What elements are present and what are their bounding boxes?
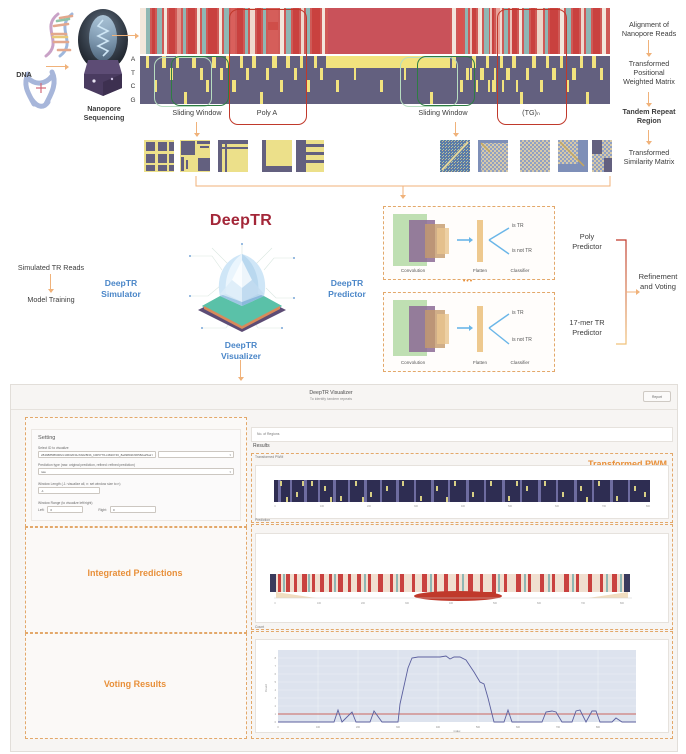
svg-text:700: 700: [581, 602, 586, 605]
window-length-value: -1: [41, 489, 44, 493]
prediction-type-value: raw: [41, 470, 46, 474]
window-range-left-value: 0: [50, 508, 52, 512]
sliding-window-left-label: Sliding Window: [157, 108, 237, 117]
svg-text:5: 5: [275, 681, 277, 684]
prediction-type-input[interactable]: raw ▾: [38, 468, 234, 475]
window-range-label: Window Range (to visualize left/right): [38, 501, 234, 505]
base-a-label: A: [131, 56, 135, 63]
arrow-seq-to-alignment: [112, 35, 138, 36]
window-range-left-label: Left:: [38, 508, 44, 512]
legend-arrow-3: [648, 130, 649, 144]
model-training-label: Model Training: [10, 295, 92, 304]
svg-text:800: 800: [596, 726, 601, 729]
window-length-label: Window Length (-1: visualize all, n: set…: [38, 482, 234, 486]
poly-predictor-l1: Poly: [580, 232, 594, 241]
svg-text:4: 4: [275, 689, 277, 692]
svg-text:0: 0: [277, 726, 279, 729]
legend-tandem-repeat-region: Tandem Repeat Region: [614, 107, 684, 125]
count-panel-header: Count: [255, 625, 264, 629]
legend-sim-l2: Similarity Matrix: [624, 157, 675, 166]
svg-text:700: 700: [556, 726, 561, 729]
funnel-connector: [120, 176, 640, 200]
report-button[interactable]: Report: [643, 391, 671, 402]
poly-net-stage-convolution: Convolution: [383, 268, 443, 273]
arrow-simulated-to-training: [50, 274, 51, 292]
svg-text:300: 300: [414, 505, 419, 508]
svg-text:700: 700: [602, 505, 607, 508]
dna-label: DNA: [6, 70, 42, 79]
transformed-pwm-panel-header: Transformed PWM: [255, 455, 283, 459]
sliding-window-right-box: [417, 56, 475, 106]
window-range-right-input[interactable]: 0: [110, 506, 156, 513]
svg-text:200: 200: [367, 505, 372, 508]
chart-xlabel: index: [454, 729, 461, 732]
legend-alignment-l2: Nanopore Reads: [622, 29, 676, 38]
poly-net-output-is-tr: is TR: [512, 223, 552, 229]
svg-text:800: 800: [646, 505, 651, 508]
svg-text:6: 6: [275, 673, 277, 676]
tg-repeat-label: (TG)ₙ: [499, 108, 563, 117]
legend-alignment-l1: Alignment of: [629, 20, 669, 29]
poly-a-label: Poly A: [231, 108, 303, 117]
results-header: Results: [253, 443, 270, 449]
deeptr-visualizer-app: DeepTR Visualizer To identify tandem rep…: [10, 384, 678, 752]
select-id-input[interactable]: 2849885f8900f2c10602031c6b028f4b_b00577f…: [38, 451, 156, 458]
predictor-l2: Predictor: [328, 289, 366, 299]
nanopore-sequencing-label: Nanopore Sequencing: [73, 104, 135, 122]
kmer-net-output-is-tr: is TR: [512, 310, 552, 316]
kmer-net-stage-flatten: Flatten: [460, 360, 500, 365]
legend-arrow-2: [648, 92, 649, 106]
simulated-tr-reads-label: Simulated TR Reads: [6, 263, 96, 272]
svg-text:100: 100: [320, 505, 325, 508]
svg-text:800: 800: [620, 602, 625, 605]
app-header: DeepTR Visualizer To identify tandem rep…: [11, 385, 677, 410]
svg-text:500: 500: [476, 726, 481, 729]
predictor-l1: DeepTR: [331, 278, 363, 288]
app-subtitle: To identify tandem repeats: [251, 397, 411, 401]
poly-net-stage-flatten: Flatten: [460, 268, 500, 273]
sliding-window-left-box: [171, 56, 229, 106]
svg-text:500: 500: [493, 602, 498, 605]
nanopore-sequencer-illustration: [72, 4, 134, 104]
svg-text:400: 400: [449, 602, 454, 605]
select-id-value: 2849885f8900f2c10602031c6b028f4b_b00577f…: [41, 453, 151, 457]
app-title: DeepTR Visualizer: [251, 390, 411, 396]
predictor-bracket: [616, 238, 646, 348]
nanopore-line2: Sequencing: [84, 113, 125, 122]
window-range-right-value: 0: [113, 508, 115, 512]
kmer-predictor-l1: 17-mer TR: [569, 318, 604, 327]
legend-similarity-matrix: Transformed Similarity Matrix: [612, 148, 686, 166]
legend-trr-l1: Tandem Repeat: [623, 107, 676, 116]
kmer-net-stage-classifier: Classifier: [498, 360, 542, 365]
visualizer-l2: Visualizer: [221, 351, 261, 361]
legend-pwm-l2: Positional: [633, 68, 664, 77]
svg-text:600: 600: [537, 602, 542, 605]
poly-net-stage-classifier: Classifier: [498, 268, 542, 273]
poly-net-output-is-not-tr: is not TR: [512, 248, 556, 254]
arrow-to-matrices-left: [196, 122, 197, 136]
sliding-window-right-label: Sliding Window: [403, 108, 483, 117]
prediction-plot: 0100200 300400500 600700800: [255, 533, 669, 623]
svg-text:8: 8: [275, 657, 277, 660]
refinement-l1: Refinement: [639, 272, 678, 281]
deeptr-predictor-label: DeepTR Predictor: [312, 278, 382, 299]
chevron-down-icon-3: ▾: [229, 470, 231, 474]
voting-results-title: Voting Results: [25, 679, 245, 689]
svg-text:100: 100: [317, 602, 322, 605]
legend-trr-l2: Region: [637, 116, 661, 125]
svg-text:1: 1: [275, 713, 277, 716]
window-range-left-input[interactable]: 0: [47, 506, 83, 513]
svg-text:300: 300: [405, 602, 410, 605]
legend-pwm-l3: Weighted Matrix: [623, 77, 675, 86]
arrow-to-matrices-right: [455, 122, 456, 136]
settings-header: Setting: [38, 435, 55, 441]
kmer-predictor-l2: Predictor: [572, 328, 602, 337]
svg-text:600: 600: [555, 505, 560, 508]
svg-text:500: 500: [508, 505, 513, 508]
deeptr-visualizer-label: DeepTR Visualizer: [196, 340, 286, 361]
refinement-and-voting-label: Refinement and Voting: [630, 272, 686, 293]
deeptr-brand-title: DeepTR: [196, 212, 286, 230]
poly-predictor-label: Poly Predictor: [556, 232, 618, 251]
svg-text:0: 0: [275, 721, 277, 724]
regions-panel-label: No. of Regions: [257, 432, 279, 436]
prediction-type-label: Prediction type (raw: original predictio…: [38, 463, 234, 467]
svg-text:600: 600: [516, 726, 521, 729]
svg-text:200: 200: [356, 726, 361, 729]
nanopore-line1: Nanopore: [87, 104, 121, 113]
svg-text:7: 7: [275, 665, 277, 668]
kmer-net-output-is-not-tr: is not TR: [512, 337, 556, 343]
regions-panel: No. of Regions: [251, 427, 673, 442]
legend-alignment: Alignment of Nanopore Reads: [614, 20, 684, 38]
base-g-label: G: [130, 97, 135, 104]
arrow-visualizer-to-ui: [240, 360, 241, 380]
legend-pwm: Transformed Positional Weighted Matrix: [614, 59, 684, 86]
settings-card: Setting Select ID to visualize 2849885f8…: [31, 429, 241, 521]
simulator-l1: DeepTR: [105, 278, 137, 288]
voting-chart: 012 345 678 0100200 300400500 600700800 …: [255, 639, 669, 733]
pwm-base-labels: A T C G: [128, 56, 138, 104]
transformed-pwm-plot: 0100200 300400500 600700800: [255, 465, 669, 519]
poly-predictor-l2: Predictor: [572, 242, 602, 251]
legend-pwm-l1: Transformed: [629, 59, 669, 68]
svg-text:200: 200: [361, 602, 366, 605]
svg-text:100: 100: [316, 726, 321, 729]
integrated-predictions-title: Integrated Predictions: [25, 568, 245, 578]
svg-text:0: 0: [274, 602, 276, 605]
svg-text:2: 2: [275, 705, 277, 708]
visualizer-l1: DeepTR: [225, 340, 257, 350]
deeptr-chip-illustration: [182, 236, 302, 346]
prediction-track-svg: 0100200 300400500 600700800: [256, 534, 668, 622]
chevron-down-icon-2: ▾: [229, 453, 231, 457]
similarity-matrix-group-left: [144, 140, 324, 174]
arrow-dna-to-seq: [46, 66, 68, 67]
kmer-predictor-label: 17-mer TR Predictor: [552, 318, 622, 337]
select-id-secondary-input[interactable]: ▾: [158, 451, 234, 458]
svg-text:300: 300: [396, 726, 401, 729]
pwm-heatmap-svg: 0100200 300400500 600700800: [256, 466, 668, 518]
base-t-label: T: [131, 70, 135, 77]
chevron-down-icon: ▾: [151, 453, 153, 457]
network-ellipsis: •••: [443, 278, 493, 285]
window-range-right-label: Right:: [98, 508, 107, 512]
kmer-net-stage-convolution: Convolution: [383, 360, 443, 365]
similarity-matrix-group-right: [440, 140, 612, 174]
integrated-predictions-section: [25, 527, 247, 633]
svg-text:400: 400: [461, 505, 466, 508]
window-length-input[interactable]: -1: [38, 487, 100, 494]
svg-text:3: 3: [275, 697, 277, 700]
simulator-l2: Simulator: [101, 289, 141, 299]
svg-text:400: 400: [436, 726, 441, 729]
select-id-label: Select ID to visualize: [38, 446, 234, 450]
svg-text:0: 0: [274, 505, 276, 508]
refinement-l2: and Voting: [640, 282, 676, 291]
base-c-label: C: [131, 83, 136, 90]
legend-arrow-1: [648, 40, 649, 56]
chart-ylabel: Count: [264, 684, 268, 692]
prediction-panel-header: Prediction: [255, 518, 270, 522]
deeptr-simulator-label: DeepTR Simulator: [86, 278, 156, 299]
kmer-predictor-network: [383, 292, 553, 370]
voting-chart-svg: 012 345 678 0100200 300400500 600700800 …: [256, 640, 668, 732]
legend-sim-l1: Transformed: [629, 148, 669, 157]
